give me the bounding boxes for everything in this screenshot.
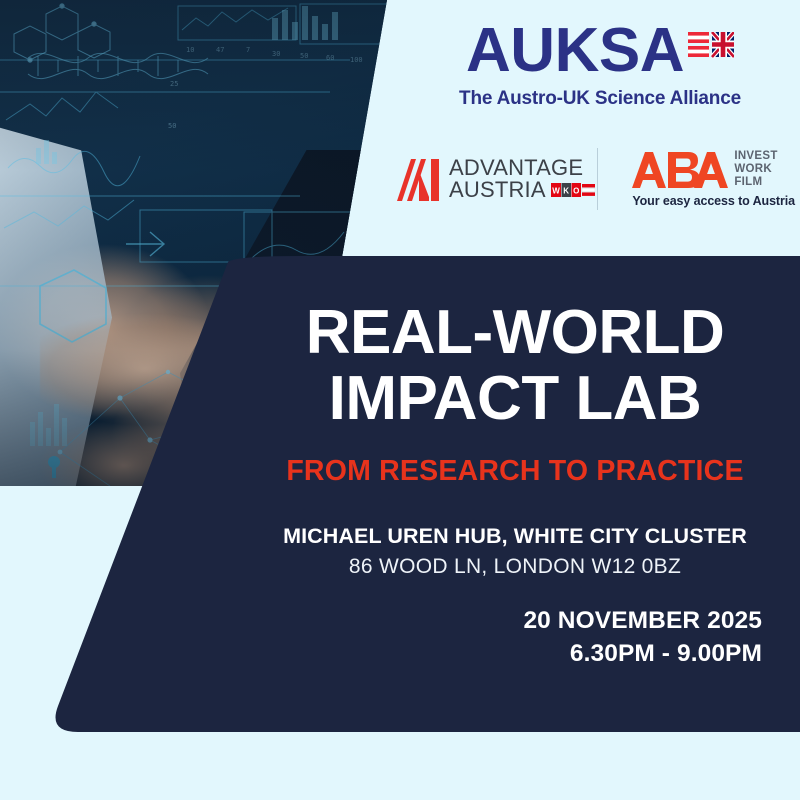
event-date: 20 NOVEMBER 2025 (250, 607, 762, 635)
advantage-austria-mark-icon (395, 157, 441, 201)
advantage-austria-logo: ADVANTAGE AUSTRIA W K O (395, 157, 595, 201)
auksa-logo: AUKSA (400, 22, 800, 110)
partner-logos-row: ADVANTAGE AUSTRIA W K O (395, 140, 795, 218)
aba-tagline: Your easy access to Austria (632, 194, 795, 208)
auksa-tagline: The Austro-UK Science Alliance (459, 88, 741, 110)
advantage-line2-row: AUSTRIA W K O (449, 179, 595, 201)
svg-text:K: K (563, 187, 569, 196)
auksa-wordmark-row: AUKSA (466, 22, 734, 81)
event-subtitle: FROM RESEARCH TO PRACTICE (250, 455, 780, 488)
event-title-line2: IMPACT LAB (250, 366, 780, 432)
venue-address: 86 WOOD LN, LONDON W12 0BZ (250, 555, 780, 579)
svg-text:W: W (552, 187, 560, 196)
wko-badge-icon: W K O (551, 183, 595, 197)
event-poster: 1047 730 5060 100 2550 (0, 0, 800, 800)
auksa-wordmark: AUKSA (466, 22, 684, 81)
advantage-line1: ADVANTAGE (449, 157, 595, 179)
event-content: REAL-WORLD IMPACT LAB FROM RESEARCH TO P… (250, 300, 780, 668)
aba-service-film: FILM (734, 176, 777, 189)
aba-mark-icon (632, 152, 728, 188)
aba-service-invest: INVEST (734, 150, 777, 163)
event-datetime: 20 NOVEMBER 2025 6.30PM - 9.00PM (250, 607, 780, 668)
partner-divider (597, 148, 598, 210)
aba-logo: INVEST WORK FILM Your easy access to Aus… (632, 150, 795, 208)
aba-top-row: INVEST WORK FILM (632, 150, 777, 189)
svg-text:O: O (573, 187, 579, 196)
aba-services-list: INVEST WORK FILM (734, 150, 777, 189)
advantage-line2: AUSTRIA (449, 179, 546, 201)
event-venue: MICHAEL UREN HUB, WHITE CITY CLUSTER 86 … (250, 524, 780, 579)
austria-uk-flags-icon (688, 32, 734, 59)
event-time: 6.30PM - 9.00PM (250, 640, 762, 668)
event-title-line1: REAL-WORLD (250, 300, 780, 366)
advantage-austria-text: ADVANTAGE AUSTRIA W K O (449, 157, 595, 201)
venue-name: MICHAEL UREN HUB, WHITE CITY CLUSTER (250, 524, 780, 549)
aba-service-work: WORK (734, 163, 777, 176)
event-title: REAL-WORLD IMPACT LAB (250, 300, 780, 433)
